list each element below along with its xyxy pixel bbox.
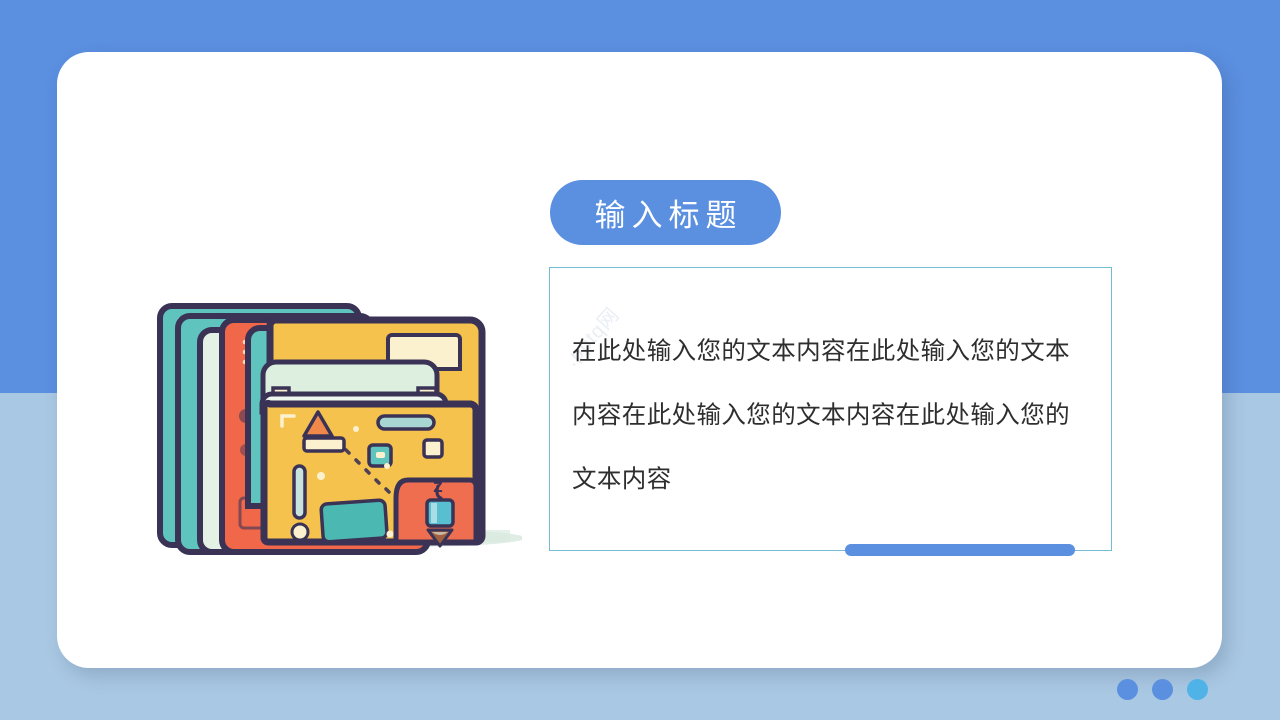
title-pill[interactable]: 输入标题: [550, 180, 781, 245]
folder-stack-illustration: Z: [150, 290, 522, 582]
accent-bar: [845, 544, 1075, 556]
dot-1-icon: [1117, 679, 1138, 700]
title-pill-label: 输入标题: [589, 190, 743, 235]
slide-canvas: Z 输入标题 .pptq网 在此处输入您的文本内容在此处输入您的文本内容在此处输…: [0, 0, 1280, 720]
svg-text:Z: Z: [433, 481, 442, 496]
dot-3-icon: [1187, 679, 1208, 700]
body-paragraph: 在此处输入您的文本内容在此处输入您的文本内容在此处输入您的文本内容在此处输入您的…: [572, 320, 1092, 512]
dot-2-icon: [1152, 679, 1173, 700]
decorative-dots: [1117, 679, 1208, 700]
